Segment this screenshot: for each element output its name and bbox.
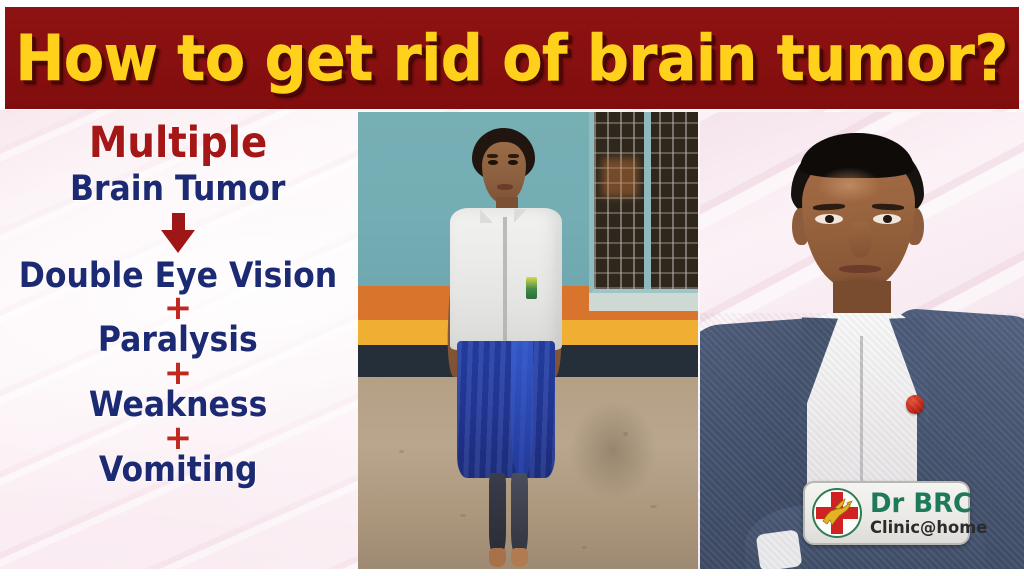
down-arrow-icon <box>161 213 195 253</box>
symptom-item-3: Vomiting <box>99 453 258 489</box>
symptom-primary-condition: Brain Tumor <box>70 172 285 208</box>
symptom-separator-1: + <box>164 360 193 387</box>
symptom-separator-2: + <box>164 425 193 452</box>
page-title: How to get rid of brain tumor? <box>16 27 1009 90</box>
thumbnail-canvas: How to get rid of brain tumor? Multiple … <box>0 0 1024 576</box>
symptom-item-1: Paralysis <box>98 323 258 359</box>
pegasus-icon <box>817 497 857 529</box>
symptom-item-0: Double Eye Vision <box>19 259 338 295</box>
medical-cross-pegasus-icon <box>812 488 862 538</box>
symptom-list: Multiple Brain Tumor Double Eye Vision +… <box>0 110 356 569</box>
patient-figure <box>358 112 698 569</box>
doctor-lapel-pin-icon <box>906 395 924 413</box>
top-white-margin <box>0 0 1024 7</box>
title-banner: How to get rid of brain tumor? <box>5 7 1019 109</box>
symptom-separator-0: + <box>164 295 193 322</box>
symptom-heading: Multiple <box>89 122 267 166</box>
logo-subtitle: Clinic@home <box>870 520 987 537</box>
logo-title: Dr BRC <box>870 490 987 517</box>
patient-photo <box>358 112 698 569</box>
symptom-item-2: Weakness <box>89 388 267 424</box>
clinic-logo[interactable]: Dr BRC Clinic@home <box>803 481 970 545</box>
bottom-white-margin <box>0 569 1024 576</box>
